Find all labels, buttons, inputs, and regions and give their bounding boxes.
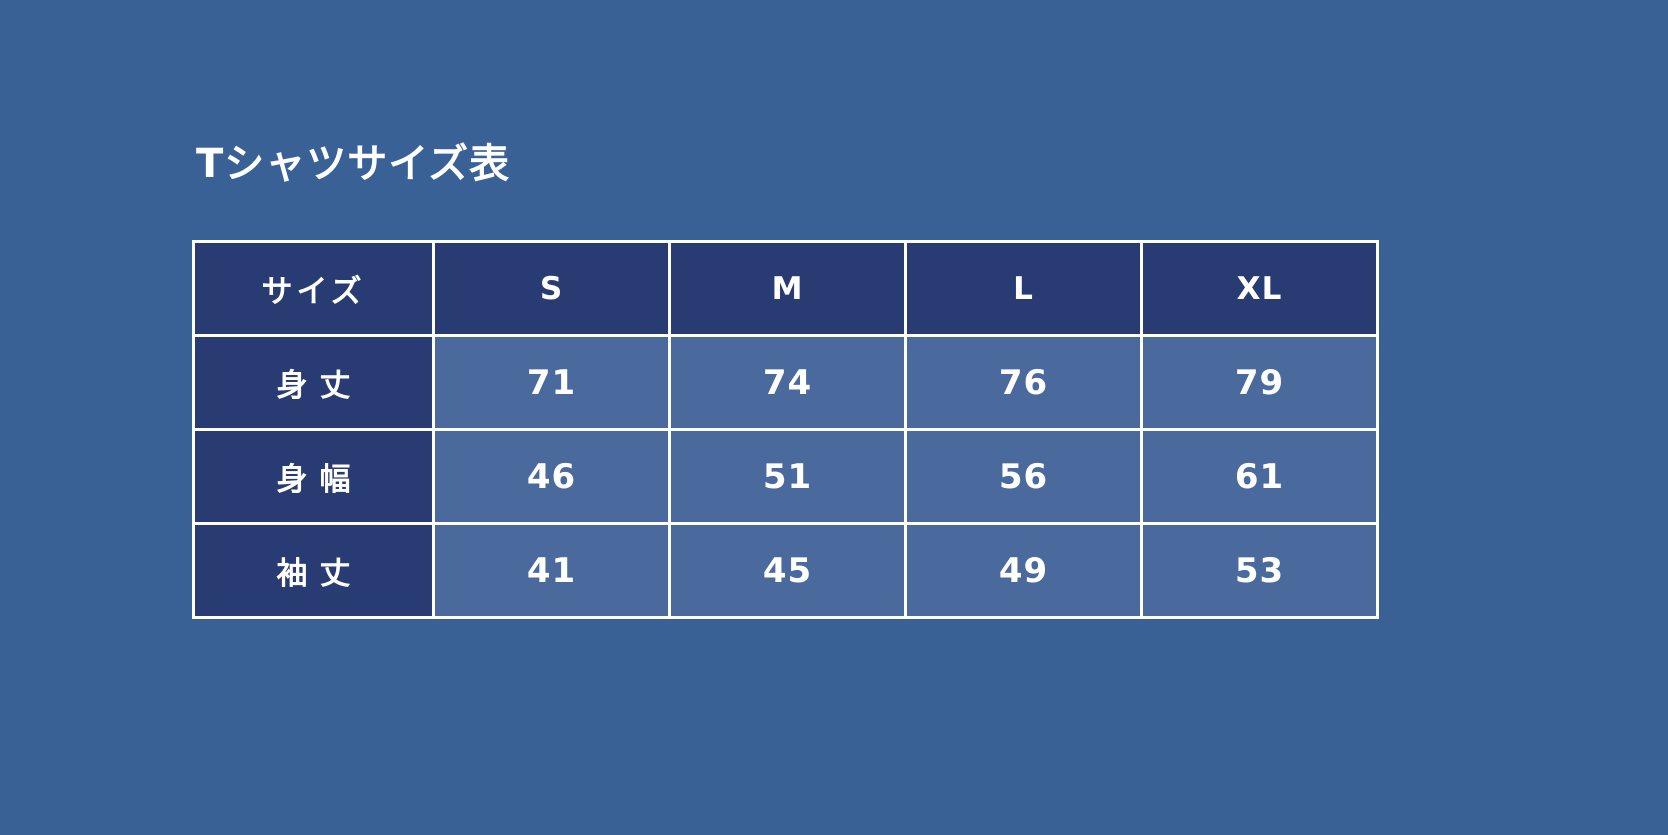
cell-body-width-xl: 61 [1142, 430, 1378, 524]
row-label-sleeve-length: 袖丈 [194, 524, 434, 618]
table-header: サイズ S M L XL [194, 242, 1378, 336]
row-label-body-width: 身幅 [194, 430, 434, 524]
row-label-body-length: 身丈 [194, 336, 434, 430]
table-row: 袖丈 41 45 49 53 [194, 524, 1378, 618]
table-row: 身丈 71 74 76 79 [194, 336, 1378, 430]
table-body: 身丈 71 74 76 79 身幅 46 51 56 61 袖丈 41 45 4… [194, 336, 1378, 618]
size-chart-table: サイズ S M L XL 身丈 71 74 76 79 身幅 46 51 56 … [192, 240, 1379, 619]
column-header-size-label: サイズ [194, 242, 434, 336]
cell-body-width-l: 56 [906, 430, 1142, 524]
cell-sleeve-length-m: 45 [670, 524, 906, 618]
column-header-m: M [670, 242, 906, 336]
cell-sleeve-length-s: 41 [434, 524, 670, 618]
column-header-l: L [906, 242, 1142, 336]
cell-body-length-xl: 79 [1142, 336, 1378, 430]
cell-body-length-s: 71 [434, 336, 670, 430]
cell-sleeve-length-xl: 53 [1142, 524, 1378, 618]
table-row: 身幅 46 51 56 61 [194, 430, 1378, 524]
column-header-xl: XL [1142, 242, 1378, 336]
cell-body-length-l: 76 [906, 336, 1142, 430]
column-header-s: S [434, 242, 670, 336]
page-canvas: Tシャツサイズ表 サイズ S M L XL 身丈 71 74 76 7 [0, 0, 1668, 835]
cell-sleeve-length-l: 49 [906, 524, 1142, 618]
table-header-row: サイズ S M L XL [194, 242, 1378, 336]
cell-body-width-s: 46 [434, 430, 670, 524]
page-title: Tシャツサイズ表 [196, 140, 510, 188]
cell-body-length-m: 74 [670, 336, 906, 430]
cell-body-width-m: 51 [670, 430, 906, 524]
